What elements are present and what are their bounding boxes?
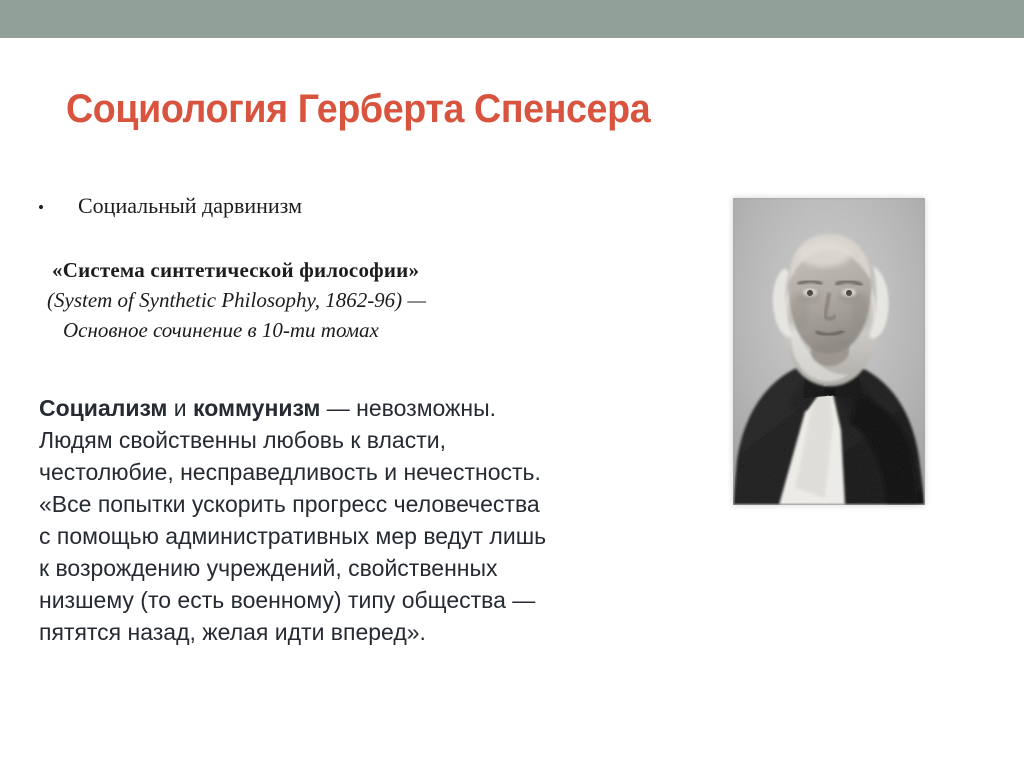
list-item: • Социальный дарвинизм (38, 191, 658, 223)
quote-line-3: честолюбие, несправедливость и нечестнос… (39, 456, 719, 488)
portrait-photo (733, 198, 925, 505)
work-title-ru: «Система синтетической философии» (44, 255, 704, 285)
work-title-en: (System of Synthetic Philosophy, 1862-96… (44, 285, 704, 315)
quote-line-1-tail: — невозможны. (320, 395, 496, 421)
quote-line-6: к возрождению учреждений, свойственных (39, 552, 719, 584)
quote-line-8: пятятся назад, желая идти вперед». (39, 616, 719, 648)
quote-line-4: «Все попытки ускорить прогресс человечес… (39, 488, 719, 520)
quote-term-socialism: Социализм (39, 395, 167, 421)
quote-line-1: Социализм и коммунизм — невозможны. (39, 392, 719, 424)
page-title: Социология Герберта Спенсера (66, 86, 893, 132)
work-description: Основное сочинение в 10-ти томах (44, 315, 704, 345)
work-reference-block: «Система синтетической философии» (Syste… (44, 255, 704, 345)
top-decorative-band (0, 0, 1024, 38)
quote-line-5: с помощью административных мер ведут лиш… (39, 520, 719, 552)
bullet-list: • Социальный дарвинизм (38, 191, 658, 223)
slide-canvas: Социология Герберта Спенсера • Социальны… (0, 0, 1024, 767)
bullet-item-label: Социальный дарвинизм (78, 191, 658, 221)
quote-conjunction: и (167, 395, 193, 421)
quote-paragraph: Социализм и коммунизм — невозможны. Людя… (39, 392, 719, 648)
quote-line-2: Людям свойственны любовь к власти, (39, 424, 719, 456)
quote-term-communism: коммунизм (193, 395, 320, 421)
bullet-dot-icon: • (38, 193, 78, 223)
quote-line-7: низшему (то есть военному) типу общества… (39, 584, 719, 616)
